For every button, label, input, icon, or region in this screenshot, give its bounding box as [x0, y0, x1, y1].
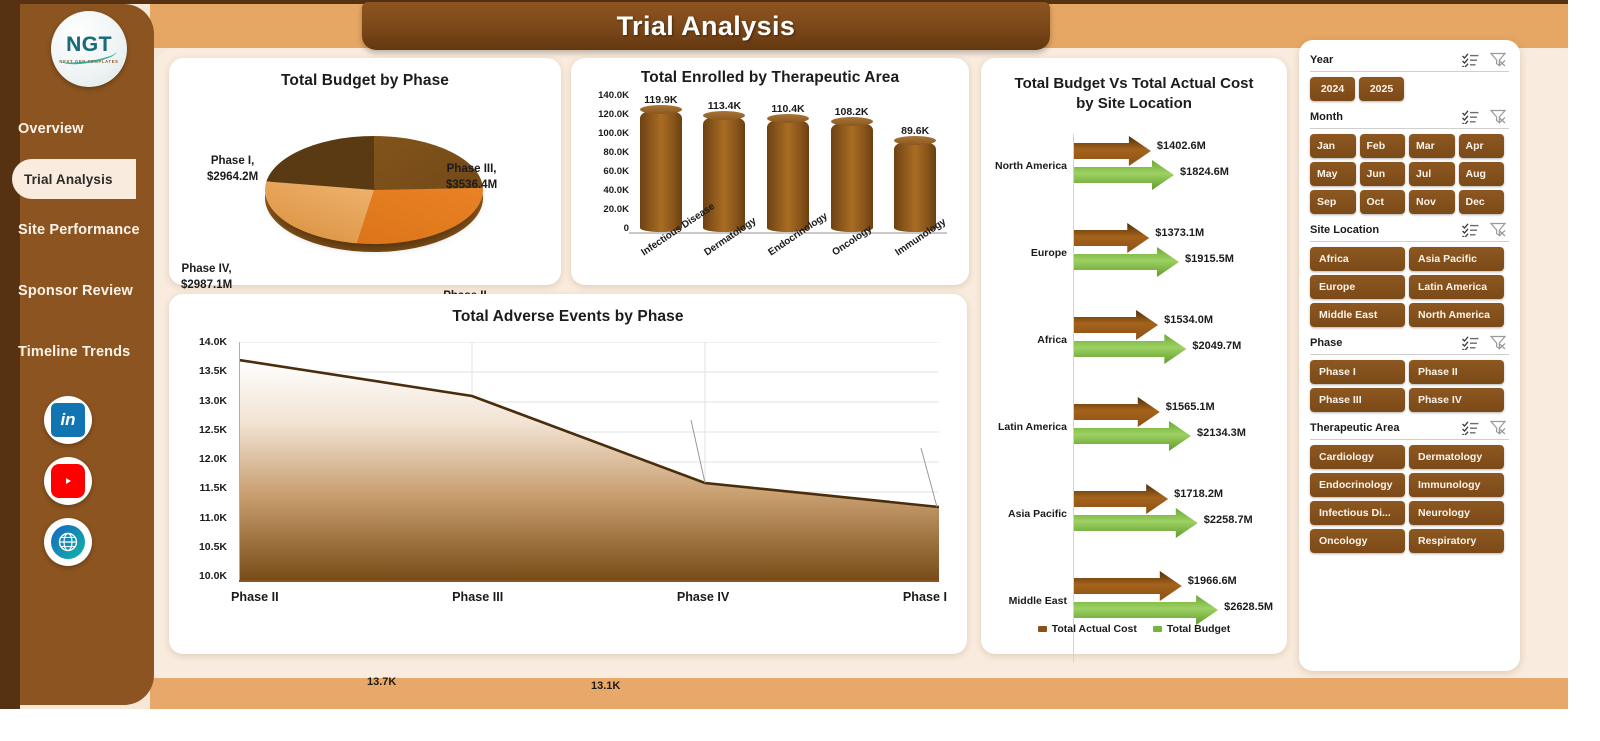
filter-section-title: Therapeutic Area	[1310, 422, 1462, 434]
filter-chip-north-america[interactable]: North America	[1409, 303, 1504, 327]
outer-frame: NGT NEXT GEN TEMPLATES Overview Trial An…	[0, 0, 1568, 709]
filter-chip-jan[interactable]: Jan	[1310, 134, 1356, 158]
filter-chip-dec[interactable]: Dec	[1459, 190, 1505, 214]
area-value-label-phase-iii: 13.1K	[591, 680, 620, 692]
bar-y-tick: 100.0K	[598, 128, 629, 139]
filter-section-header: Site Location	[1310, 220, 1509, 242]
clear-filter-icon	[1490, 420, 1506, 435]
clear-filter-icon	[1490, 52, 1506, 67]
legend-swatch	[1153, 626, 1162, 632]
filter-section-icons	[1462, 109, 1509, 124]
bar-chart-x-axis: Infectious DiseaseDermatologyEndocrinolo…	[629, 238, 947, 298]
filter-chip-immunology[interactable]: Immunology	[1409, 473, 1504, 497]
social-links: in	[0, 396, 136, 566]
card-total-budget-by-phase: Total Budget by Phase Phase I,$2964.2M P…	[169, 58, 561, 285]
area-y-tick: 13.0K	[199, 395, 227, 407]
funnel-category-label: Asia Pacific	[981, 508, 1067, 520]
filter-chip-dermatology[interactable]: Dermatology	[1409, 445, 1504, 469]
funnel-value-budget: $2134.3M	[1197, 427, 1246, 439]
pie-label-name: Phase III,	[447, 163, 497, 175]
multi-select-icon[interactable]	[1462, 223, 1479, 237]
youtube-link[interactable]	[44, 457, 92, 505]
filter-chip-group: CardiologyDermatologyEndocrinologyImmuno…	[1310, 445, 1509, 553]
multi-select-icon[interactable]	[1462, 421, 1479, 435]
funnel-title-line1: Total Budget Vs Total Actual Cost	[981, 74, 1287, 94]
filter-chip-feb[interactable]: Feb	[1360, 134, 1406, 158]
area-y-tick: 11.5K	[200, 482, 227, 494]
funnel-arrow-budget[interactable]	[1074, 508, 1199, 538]
filter-chip-may[interactable]: May	[1310, 162, 1356, 186]
area-y-tick: 13.5K	[199, 365, 227, 377]
clear-filter-icon	[1490, 222, 1506, 237]
sidebar-item-label: Sponsor Review	[18, 283, 133, 299]
filter-section-title: Phase	[1310, 337, 1462, 349]
area-y-tick: 12.5K	[199, 424, 227, 436]
sidebar-item-sponsor-review[interactable]: Sponsor Review	[0, 260, 136, 321]
bar-value-label: 119.9K	[644, 94, 677, 106]
area-y-tick: 14.0K	[199, 336, 227, 348]
bar-column[interactable]: 110.4K	[763, 103, 813, 232]
funnel-value-actual-cost: $1373.1M	[1155, 227, 1204, 239]
bar-chart-bars: 119.9K113.4K110.4K108.2K89.6K	[629, 90, 947, 234]
card-total-adverse-events-by-phase: Total Adverse Events by Phase 14.0K13.5K…	[169, 294, 967, 654]
filter-section-site-location: Site LocationAfricaAsia PacificEuropeLat…	[1310, 220, 1509, 327]
filter-chip-oncology[interactable]: Oncology	[1310, 529, 1405, 553]
filter-chip-cardiology[interactable]: Cardiology	[1310, 445, 1405, 469]
area-chart-plot	[239, 342, 939, 582]
page-title-text: Trial Analysis	[617, 11, 796, 42]
funnel-value-budget: $2628.5M	[1224, 601, 1273, 613]
filter-chip-latin-america[interactable]: Latin America	[1409, 275, 1504, 299]
funnel-group: Europe$1373.1M$1915.5M	[981, 221, 1287, 299]
filter-chip-apr[interactable]: Apr	[1459, 134, 1505, 158]
sidebar-nav: Overview Trial Analysis Site Performance…	[0, 98, 136, 382]
pie-label-value: $3536.4M	[446, 179, 497, 191]
bar-y-tick: 120.0K	[598, 109, 629, 120]
filter-section-header: Year	[1310, 50, 1509, 72]
filter-chip-oct[interactable]: Oct	[1360, 190, 1406, 214]
legend-swatch	[1038, 626, 1047, 632]
filter-panel: Year20242025MonthJanFebMarAprMayJunJulAu…	[1299, 40, 1520, 671]
area-x-tick: Phase I	[903, 590, 947, 604]
sidebar-item-overview[interactable]: Overview	[0, 98, 136, 159]
area-y-tick: 12.0K	[199, 453, 227, 465]
card-total-enrolled-by-therapeutic-area: Total Enrolled by Therapeutic Area 140.0…	[571, 58, 969, 285]
area-chart-x-axis: Phase IIPhase IIIPhase IVPhase I	[231, 590, 947, 604]
funnel-title-line2: by Site Location	[981, 94, 1287, 114]
filter-section-header: Phase	[1310, 333, 1509, 355]
card-budget-vs-actual-cost: Total Budget Vs Total Actual Cost by Sit…	[981, 58, 1287, 654]
funnel-group: Middle East$1966.6M$2628.5M	[981, 569, 1287, 647]
bar-y-tick: 40.0K	[603, 185, 629, 196]
area-chart-y-axis: 14.0K13.5K13.0K12.5K12.0K11.5K11.0K10.5K…	[175, 336, 227, 582]
filter-chip-phase-i[interactable]: Phase I	[1310, 360, 1405, 384]
clear-filter-icon[interactable]	[1490, 420, 1506, 435]
funnel-group: Asia Pacific$1718.2M$2258.7M	[981, 482, 1287, 560]
globe-icon	[51, 525, 85, 559]
bar-body[interactable]	[640, 109, 682, 232]
bar-body[interactable]	[831, 121, 873, 232]
filter-chip-aug[interactable]: Aug	[1459, 162, 1505, 186]
funnel-value-actual-cost: $1966.6M	[1188, 575, 1237, 587]
bar-value-label: 108.2K	[835, 106, 869, 118]
legend-label: Total Budget	[1167, 623, 1230, 635]
funnel-group: North America$1402.6M$1824.6M	[981, 134, 1287, 212]
multi-select-icon[interactable]	[1462, 53, 1479, 67]
bar-chart-title: Total Enrolled by Therapeutic Area	[571, 69, 969, 87]
filter-section-icons	[1462, 222, 1509, 237]
area-x-tick: Phase II	[231, 590, 279, 604]
pie-label-phase-iv: Phase IV,$2987.1M	[181, 262, 232, 294]
funnel-category-label: Latin America	[981, 421, 1067, 433]
filter-section-title: Year	[1310, 54, 1462, 66]
funnel-arrow-budget[interactable]	[1074, 421, 1192, 451]
filter-chip-group: Phase IPhase IIPhase IIIPhase IV	[1310, 360, 1509, 412]
clear-filter-icon	[1490, 335, 1506, 350]
funnel-chart-legend: Total Actual CostTotal Budget	[981, 623, 1287, 635]
bar-y-tick: 140.0K	[598, 90, 629, 101]
clear-filter-icon[interactable]	[1490, 109, 1506, 124]
bar-column[interactable]: 119.9K	[636, 94, 686, 232]
page-title: Trial Analysis	[362, 2, 1050, 50]
funnel-group: Africa$1534.0M$2049.7M	[981, 308, 1287, 386]
funnel-arrow-budget[interactable]	[1074, 160, 1175, 190]
bar-y-tick: 20.0K	[603, 204, 629, 215]
area-value-label-phase-ii: 13.7K	[367, 676, 396, 688]
multi-select-icon	[1462, 53, 1479, 67]
funnel-arrow-budget[interactable]	[1074, 247, 1180, 277]
multi-select-icon	[1462, 110, 1479, 124]
funnel-value-budget: $2258.7M	[1204, 514, 1253, 526]
area-y-tick: 10.0K	[199, 570, 227, 582]
funnel-category-label: Africa	[981, 334, 1067, 346]
funnel-category-label: Middle East	[981, 595, 1067, 607]
filter-section-title: Month	[1310, 111, 1462, 123]
sidebar-item-label: Trial Analysis	[24, 172, 113, 187]
filter-chip-phase-ii[interactable]: Phase II	[1409, 360, 1504, 384]
filter-chip-jul[interactable]: Jul	[1409, 162, 1455, 186]
pie-chart: Phase I,$2964.2M Phase III,$3536.4M Phas…	[169, 102, 561, 282]
area-x-tick: Phase III	[452, 590, 503, 604]
legend-item[interactable]: Total Budget	[1153, 623, 1230, 635]
pie-label-phase-i: Phase I,$2964.2M	[207, 154, 258, 186]
bar-y-tick: 60.0K	[603, 166, 629, 177]
clear-filter-icon[interactable]	[1490, 52, 1506, 67]
funnel-value-actual-cost: $1718.2M	[1174, 488, 1223, 500]
pie-chart-title: Total Budget by Phase	[169, 72, 561, 90]
area-y-tick: 11.0K	[200, 512, 227, 524]
funnel-value-budget: $1915.5M	[1185, 253, 1234, 265]
multi-select-icon	[1462, 223, 1479, 237]
filter-chip-europe[interactable]: Europe	[1310, 275, 1405, 299]
website-link[interactable]	[44, 518, 92, 566]
filter-chip-2024[interactable]: 2024	[1310, 77, 1355, 101]
funnel-value-actual-cost: $1534.0M	[1164, 314, 1213, 326]
bar-body[interactable]	[767, 118, 809, 232]
filter-chip-group: AfricaAsia PacificEuropeLatin AmericaMid…	[1310, 247, 1509, 327]
filter-section-icons	[1462, 335, 1509, 350]
funnel-arrow-budget[interactable]	[1074, 334, 1187, 364]
funnel-value-budget: $2049.7M	[1192, 340, 1241, 352]
multi-select-icon[interactable]	[1462, 336, 1479, 350]
filter-chip-group: JanFebMarAprMayJunJulAugSepOctNovDec	[1310, 134, 1509, 214]
funnel-chart-title: Total Budget Vs Total Actual Cost by Sit…	[981, 74, 1287, 115]
sidebar-item-site-performance[interactable]: Site Performance	[0, 199, 136, 260]
ngt-logo: NGT NEXT GEN TEMPLATES	[51, 11, 127, 87]
filter-chip-middle-east[interactable]: Middle East	[1310, 303, 1405, 327]
sidebar-item-label: Overview	[18, 121, 84, 137]
funnel-value-budget: $1824.6M	[1180, 166, 1229, 178]
filter-chip-group: 20242025	[1310, 77, 1509, 101]
filter-chip-sep[interactable]: Sep	[1310, 190, 1356, 214]
bar-body[interactable]	[894, 140, 936, 232]
pie-label-name: Phase I,	[211, 155, 254, 167]
filter-section-header: Month	[1310, 107, 1509, 129]
funnel-group: Latin America$1565.1M$2134.3M	[981, 395, 1287, 473]
sidebar-item-label: Site Performance	[18, 222, 140, 238]
bar-column[interactable]: 108.2K	[827, 106, 877, 232]
linkedin-icon: in	[51, 403, 85, 437]
multi-select-icon	[1462, 421, 1479, 435]
funnel-value-actual-cost: $1402.6M	[1157, 140, 1206, 152]
filter-chip-respiratory[interactable]: Respiratory	[1409, 529, 1504, 553]
filter-chip-africa[interactable]: Africa	[1310, 247, 1405, 271]
filter-section-therapeutic-area: Therapeutic AreaCardiologyDermatologyEnd…	[1310, 418, 1509, 553]
pie-label-name: Phase IV,	[182, 263, 232, 275]
youtube-icon	[51, 464, 85, 498]
filter-chip-neurology[interactable]: Neurology	[1409, 501, 1504, 525]
legend-item[interactable]: Total Actual Cost	[1038, 623, 1137, 635]
filter-chip-asia-pacific[interactable]: Asia Pacific	[1409, 247, 1504, 271]
filter-chip-endocrinology[interactable]: Endocrinology	[1310, 473, 1405, 497]
bottom-band	[150, 678, 1568, 709]
funnel-chart-body: North America$1402.6M$1824.6MEurope$1373…	[981, 134, 1287, 664]
filter-section-header: Therapeutic Area	[1310, 418, 1509, 440]
filter-chip-2025[interactable]: 2025	[1359, 77, 1404, 101]
sidebar-item-timeline-trends[interactable]: Timeline Trends	[0, 321, 136, 382]
area-chart-title: Total Adverse Events by Phase	[169, 308, 967, 326]
funnel-category-label: Europe	[981, 247, 1067, 259]
filter-chip-mar[interactable]: Mar	[1409, 134, 1455, 158]
multi-select-icon[interactable]	[1462, 110, 1479, 124]
bar-column[interactable]: 89.6K	[890, 125, 940, 232]
filter-section-icons	[1462, 420, 1509, 435]
filter-section-title: Site Location	[1310, 224, 1462, 236]
filter-section-year: Year20242025	[1310, 50, 1509, 101]
clear-filter-icon[interactable]	[1490, 222, 1506, 237]
filter-chip-phase-iii[interactable]: Phase III	[1310, 388, 1405, 412]
pie-label-value: $2987.1M	[181, 279, 232, 291]
funnel-arrow-budget[interactable]	[1074, 595, 1219, 625]
filter-section-phase: PhasePhase IPhase IIPhase IIIPhase IV	[1310, 333, 1509, 412]
area-y-tick: 10.5K	[199, 541, 227, 553]
clear-filter-icon[interactable]	[1490, 335, 1506, 350]
area-x-tick: Phase IV	[677, 590, 730, 604]
funnel-value-actual-cost: $1565.1M	[1166, 401, 1215, 413]
bar-chart-y-axis: 140.0K120.0K100.0K80.0K60.0K40.0K20.0K0	[575, 90, 629, 234]
filter-section-icons	[1462, 52, 1509, 67]
filter-chip-phase-iv[interactable]: Phase IV	[1409, 388, 1504, 412]
dashboard-root: NGT NEXT GEN TEMPLATES Overview Trial An…	[0, 0, 1600, 741]
filter-chip-nov[interactable]: Nov	[1409, 190, 1455, 214]
linkedin-link[interactable]: in	[44, 396, 92, 444]
pie-label-value: $2964.2M	[207, 171, 258, 183]
sidebar-item-trial-analysis[interactable]: Trial Analysis	[12, 159, 136, 199]
legend-label: Total Actual Cost	[1052, 623, 1137, 635]
sidebar-item-label: Timeline Trends	[18, 344, 130, 360]
filter-chip-jun[interactable]: Jun	[1360, 162, 1406, 186]
bar-y-tick: 80.0K	[603, 147, 629, 158]
funnel-category-label: North America	[981, 160, 1067, 172]
clear-filter-icon	[1490, 109, 1506, 124]
pie-label-phase-iii: Phase III,$3536.4M	[446, 162, 497, 194]
filter-chip-infectious-di[interactable]: Infectious Di...	[1310, 501, 1405, 525]
filter-section-month: MonthJanFebMarAprMayJunJulAugSepOctNovDe…	[1310, 107, 1509, 214]
multi-select-icon	[1462, 336, 1479, 350]
